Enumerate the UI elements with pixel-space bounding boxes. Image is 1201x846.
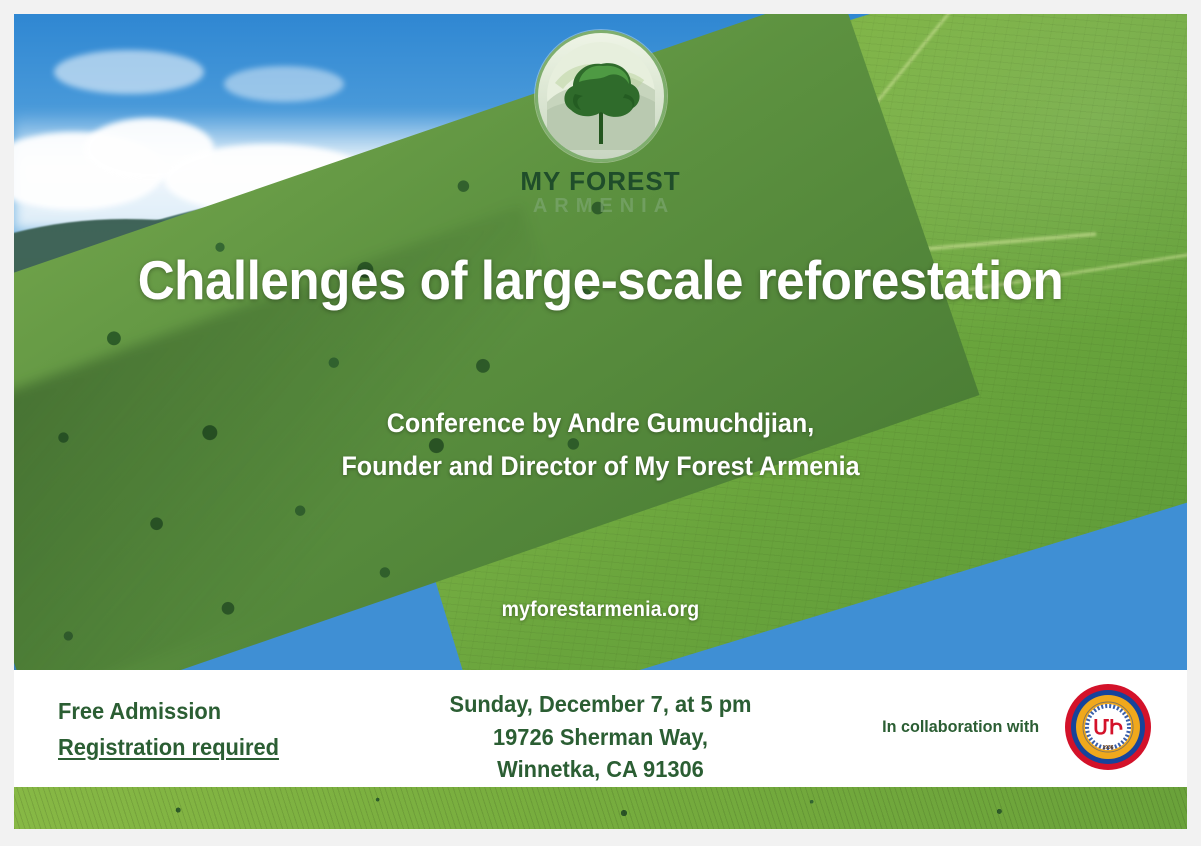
logo-brand-name: MY FOREST: [481, 168, 721, 195]
hero-photo: MY FOREST ARMENIA Challenges of large-sc…: [14, 14, 1187, 670]
subheadline-line-2: Founder and Director of My Forest Armeni…: [55, 445, 1146, 488]
poster-subheadline: Conference by Andre Gumuchdjian, Founder…: [55, 402, 1146, 488]
cloud-shape: [224, 66, 344, 102]
page-canvas: MY FOREST ARMENIA Challenges of large-sc…: [0, 0, 1201, 846]
svg-text:ՄԻ: ՄԻ: [1093, 717, 1123, 739]
website-url[interactable]: myforestarmenia.org: [55, 598, 1146, 622]
cloud-shape: [54, 50, 204, 94]
info-bar: Free Admission Registration required Sun…: [14, 670, 1187, 787]
poster-headline: Challenges of large-scale reforestation: [55, 252, 1146, 310]
my-forest-armenia-logo: MY FOREST ARMENIA: [481, 30, 721, 217]
collaboration-label: In collaboration with: [882, 717, 1039, 737]
collaboration-block: In collaboration with ՄԻ 1936: [878, 684, 1151, 770]
bottom-grass-strip: [14, 787, 1187, 829]
organization-of-istanbul-armenians-seal-icon: ՄԻ 1936: [1065, 684, 1151, 770]
tree-in-circle-icon: [535, 30, 667, 162]
event-poster: MY FOREST ARMENIA Challenges of large-sc…: [14, 14, 1187, 829]
logo-brand-sub: ARMENIA: [481, 195, 721, 217]
svg-text:1936: 1936: [1102, 745, 1113, 751]
subheadline-line-1: Conference by Andre Gumuchdjian,: [55, 402, 1146, 445]
